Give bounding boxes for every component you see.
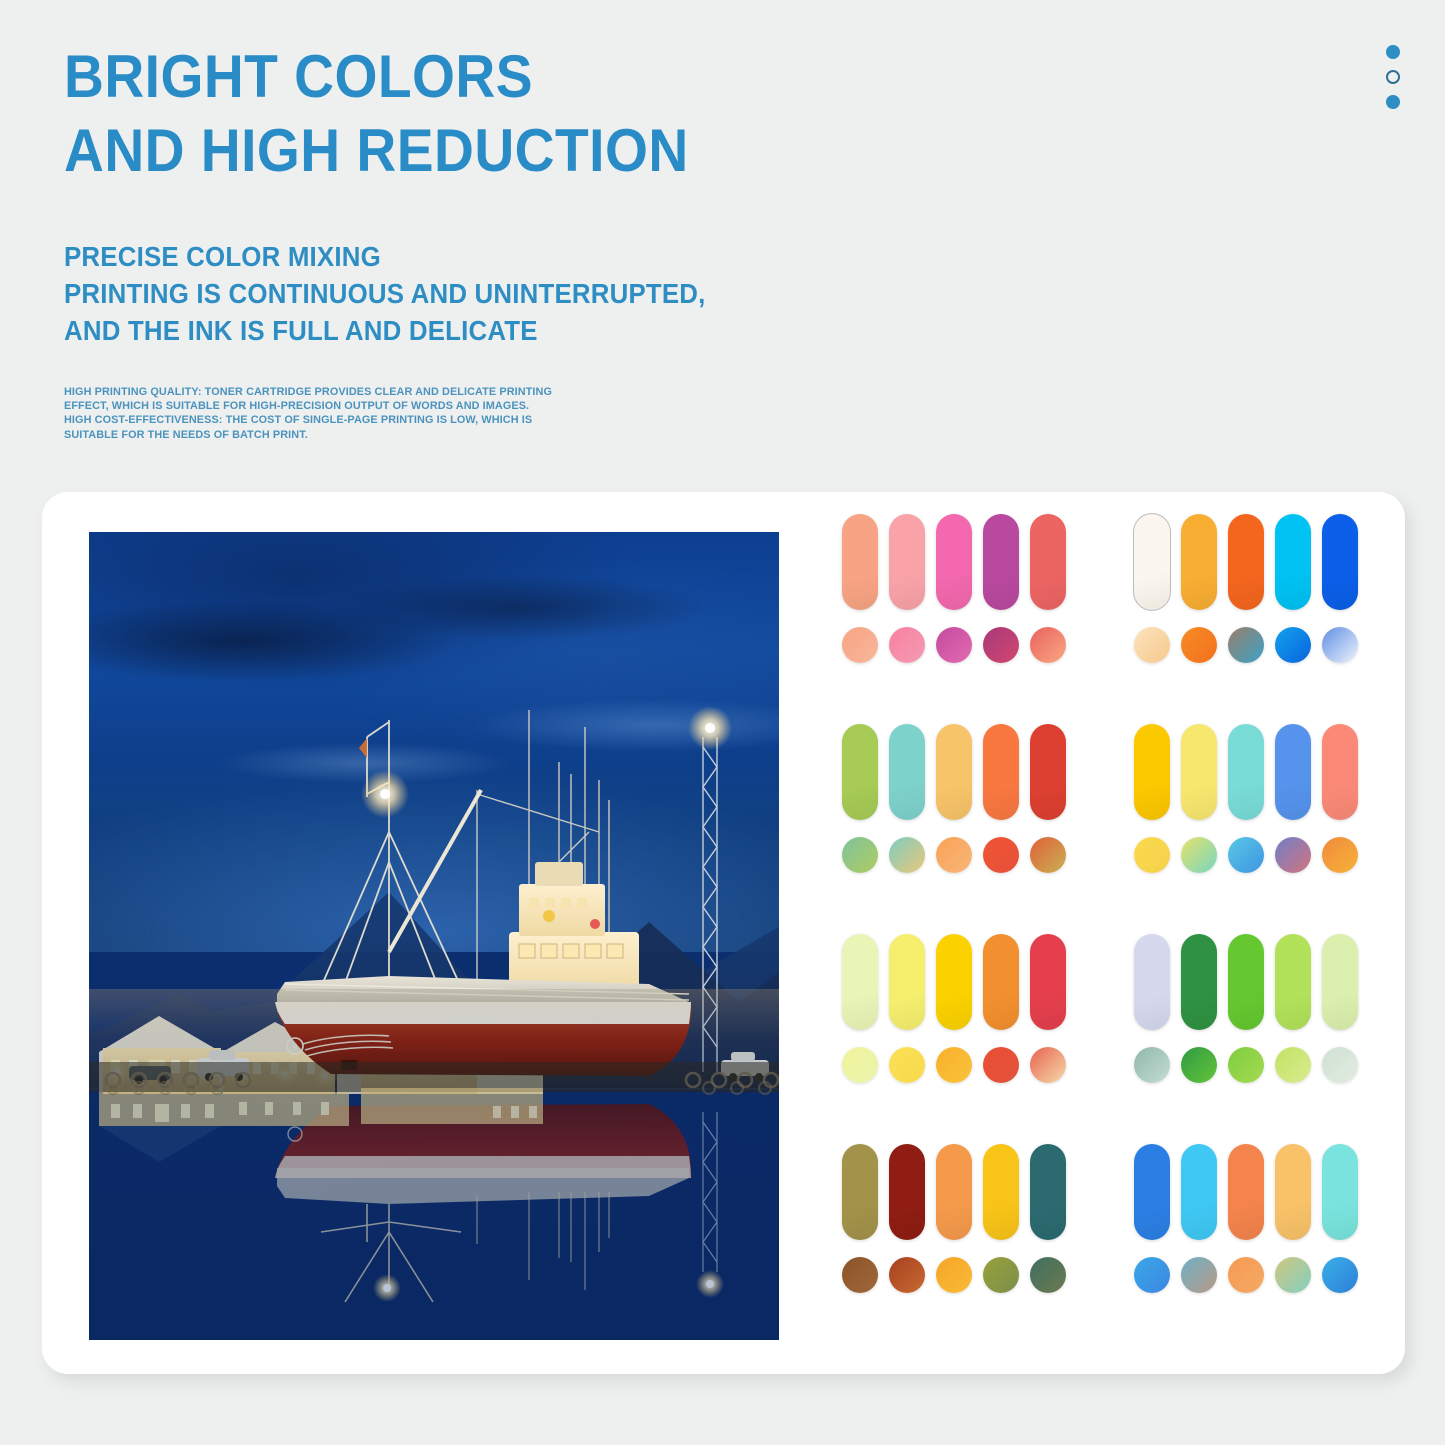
palette-pill-0-2[interactable]: [936, 514, 972, 610]
palette-pill-7-1[interactable]: [1181, 1144, 1217, 1240]
body-text-line-3: HIGH COST-EFFECTIVENESS: THE COST OF SIN…: [64, 413, 568, 427]
palette-pill-0-0[interactable]: [842, 514, 878, 610]
palette-pill-row: [842, 724, 1090, 820]
palette-pill-row: [842, 1144, 1090, 1240]
palette-circle-row: [842, 1257, 1090, 1293]
palette-circle-7-3[interactable]: [1275, 1257, 1311, 1293]
palette-pill-3-1[interactable]: [1181, 724, 1217, 820]
palette-circle-0-3[interactable]: [983, 627, 1019, 663]
palette-group-cream-orange-blue: [1134, 514, 1382, 724]
palette-pill-2-0[interactable]: [842, 724, 878, 820]
palette-pill-0-4[interactable]: [1030, 514, 1066, 610]
dot-filled-top-icon: [1386, 45, 1400, 59]
palette-pill-row: [842, 934, 1090, 1030]
palette-pill-4-0[interactable]: [842, 934, 878, 1030]
palette-pill-5-4[interactable]: [1322, 934, 1358, 1030]
palette-pill-3-0[interactable]: [1134, 724, 1170, 820]
palette-circle-3-1[interactable]: [1181, 837, 1217, 873]
palette-pill-1-3[interactable]: [1275, 514, 1311, 610]
palette-pill-6-2[interactable]: [936, 1144, 972, 1240]
palette-pill-4-2[interactable]: [936, 934, 972, 1030]
palette-circle-3-0[interactable]: [1134, 837, 1170, 873]
palette-circle-3-3[interactable]: [1275, 837, 1311, 873]
palette-pill-5-2[interactable]: [1228, 934, 1264, 1030]
palette-pill-row: [1134, 724, 1382, 820]
palette-pill-3-3[interactable]: [1275, 724, 1311, 820]
palette-circle-row: [842, 837, 1090, 873]
palette-circle-1-2[interactable]: [1228, 627, 1264, 663]
palette-circle-4-1[interactable]: [889, 1047, 925, 1083]
palette-circle-4-4[interactable]: [1030, 1047, 1066, 1083]
palette-pill-row: [1134, 1144, 1382, 1240]
palette-group-lavender-greens: [1134, 934, 1382, 1144]
palette-circle-row: [842, 627, 1090, 663]
palette-circle-7-4[interactable]: [1322, 1257, 1358, 1293]
page-title-line-2: AND HIGH REDUCTION: [64, 118, 892, 184]
palette-pill-7-0[interactable]: [1134, 1144, 1170, 1240]
palette-circle-4-2[interactable]: [936, 1047, 972, 1083]
palette-circle-0-4[interactable]: [1030, 627, 1066, 663]
body-text-line-1: HIGH PRINTING QUALITY: TONER CARTRIDGE P…: [64, 385, 568, 399]
palette-circle-row: [842, 1047, 1090, 1083]
palette-pill-0-3[interactable]: [983, 514, 1019, 610]
palette-group-green-teal-orange: [842, 724, 1090, 934]
dot-ring-middle-icon: [1386, 70, 1400, 84]
palette-pill-6-3[interactable]: [983, 1144, 1019, 1240]
page-title: BRIGHT COLORS AND HIGH REDUCTION: [64, 44, 892, 184]
page-header: BRIGHT COLORS AND HIGH REDUCTION PRECISE…: [64, 44, 964, 442]
palette-circle-2-0[interactable]: [842, 837, 878, 873]
color-palette-grid: [842, 514, 1382, 1354]
palette-circle-0-1[interactable]: [889, 627, 925, 663]
palette-pill-4-4[interactable]: [1030, 934, 1066, 1030]
palette-pill-3-4[interactable]: [1322, 724, 1358, 820]
palette-pill-row: [842, 514, 1090, 610]
palette-group-yellow-aqua-blue: [1134, 724, 1382, 934]
palette-pill-7-3[interactable]: [1275, 1144, 1311, 1240]
page-title-line-1: BRIGHT COLORS: [64, 43, 533, 110]
palette-circle-5-1[interactable]: [1181, 1047, 1217, 1083]
page-subtitle-line-1: PRECISE COLOR MIXING: [64, 238, 910, 275]
palette-pill-7-4[interactable]: [1322, 1144, 1358, 1240]
palette-circle-2-1[interactable]: [889, 837, 925, 873]
palette-pill-6-1[interactable]: [889, 1144, 925, 1240]
palette-pill-1-2[interactable]: [1228, 514, 1264, 610]
page-subtitle-line-2: PRINTING IS CONTINUOUS AND UNINTERRUPTED…: [64, 275, 910, 312]
content-card: S: [42, 492, 1405, 1374]
palette-pill-row: [1134, 934, 1382, 1030]
palette-circle-1-3[interactable]: [1275, 627, 1311, 663]
palette-circle-3-2[interactable]: [1228, 837, 1264, 873]
palette-pill-2-2[interactable]: [936, 724, 972, 820]
palette-circle-0-0[interactable]: [842, 627, 878, 663]
palette-circle-5-0[interactable]: [1134, 1047, 1170, 1083]
palette-circle-5-3[interactable]: [1275, 1047, 1311, 1083]
palette-pill-row: [1134, 514, 1382, 610]
palette-pill-4-3[interactable]: [983, 934, 1019, 1030]
palette-circle-6-0[interactable]: [842, 1257, 878, 1293]
palette-pill-5-0[interactable]: [1134, 934, 1170, 1030]
palette-circle-2-3[interactable]: [983, 837, 1019, 873]
palette-pill-5-3[interactable]: [1275, 934, 1311, 1030]
palette-circle-6-4[interactable]: [1030, 1257, 1066, 1293]
palette-circle-5-2[interactable]: [1228, 1047, 1264, 1083]
body-text-line-4: SUITABLE FOR THE NEEDS OF BATCH PRINT.: [64, 428, 568, 442]
palette-pill-7-2[interactable]: [1228, 1144, 1264, 1240]
palette-pill-2-3[interactable]: [983, 724, 1019, 820]
palette-circle-4-3[interactable]: [983, 1047, 1019, 1083]
palette-group-blue-aqua-peach: [1134, 1144, 1382, 1354]
palette-pill-1-0[interactable]: [1134, 514, 1170, 610]
palette-circle-row: [1134, 1047, 1382, 1083]
page-subtitle-line-3: AND THE INK IS FULL AND DELICATE: [64, 312, 910, 349]
palette-circle-row: [1134, 837, 1382, 873]
photo-water-haze: [89, 989, 779, 1102]
palette-circle-7-0[interactable]: [1134, 1257, 1170, 1293]
dot-filled-bottom-icon: [1386, 95, 1400, 109]
body-text-line-2: EFFECT, WHICH IS SUITABLE FOR HIGH-PRECI…: [64, 399, 568, 413]
palette-circle-row: [1134, 1257, 1382, 1293]
palette-group-pale-yellow-red: [842, 934, 1090, 1144]
palette-circle-1-0[interactable]: [1134, 627, 1170, 663]
palette-pill-2-4[interactable]: [1030, 724, 1066, 820]
palette-circle-1-1[interactable]: [1181, 627, 1217, 663]
palette-circle-6-1[interactable]: [889, 1257, 925, 1293]
palette-pill-6-0[interactable]: [842, 1144, 878, 1240]
palette-circle-1-4[interactable]: [1322, 627, 1358, 663]
palette-pill-6-4[interactable]: [1030, 1144, 1066, 1240]
harbor-boat-night-photo: S: [89, 532, 779, 1340]
palette-pill-4-1[interactable]: [889, 934, 925, 1030]
palette-circle-2-2[interactable]: [936, 837, 972, 873]
palette-pill-1-4[interactable]: [1322, 514, 1358, 610]
palette-pill-0-1[interactable]: [889, 514, 925, 610]
palette-pill-5-1[interactable]: [1181, 934, 1217, 1030]
palette-circle-3-4[interactable]: [1322, 837, 1358, 873]
palette-circle-row: [1134, 627, 1382, 663]
page-body-text: HIGH PRINTING QUALITY: TONER CARTRIDGE P…: [64, 349, 568, 442]
palette-pill-2-1[interactable]: [889, 724, 925, 820]
palette-circle-0-2[interactable]: [936, 627, 972, 663]
palette-circle-4-0[interactable]: [842, 1047, 878, 1083]
palette-pill-1-1[interactable]: [1181, 514, 1217, 610]
palette-circle-7-2[interactable]: [1228, 1257, 1264, 1293]
palette-circle-2-4[interactable]: [1030, 837, 1066, 873]
dot-decoration: [1386, 45, 1400, 109]
palette-circle-6-2[interactable]: [936, 1257, 972, 1293]
palette-circle-6-3[interactable]: [983, 1257, 1019, 1293]
page-subtitle: PRECISE COLOR MIXING PRINTING IS CONTINU…: [64, 184, 910, 349]
palette-group-pink-coral: [842, 514, 1090, 724]
palette-circle-7-1[interactable]: [1181, 1257, 1217, 1293]
palette-group-olive-rust-teal: [842, 1144, 1090, 1354]
palette-pill-3-2[interactable]: [1228, 724, 1264, 820]
palette-circle-5-4[interactable]: [1322, 1047, 1358, 1083]
